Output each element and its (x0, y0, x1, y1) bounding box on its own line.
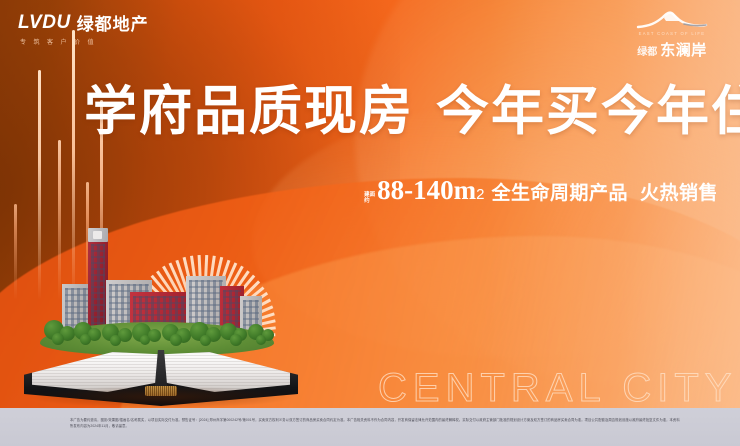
legal-disclaimer: 本广告为要约邀请，图影/效果图/插画名/名称属实，以项目实际交付为准。预售证号：… (70, 417, 680, 430)
area-prefix-label: 建面 约 (364, 193, 375, 205)
brand-name-text: 绿都地产 (77, 10, 149, 35)
building-clock-tower (88, 240, 108, 336)
sales-status-text: 火热销售 (640, 178, 718, 205)
project-english-name: EAST COAST OF LIFE (620, 31, 724, 36)
advertisement-poster: LVDU 绿都地产 专筑客户价值 EAST COAST OF LIFE 绿都 东… (0, 0, 740, 446)
product-description: 全生命周期产品 (491, 178, 628, 205)
book-campus-illustration (18, 236, 304, 412)
developer-short-name: 绿都 (637, 43, 657, 58)
brand-logo-left: LVDU 绿都地产 专筑客户价值 (18, 10, 149, 46)
headline-part-2: 今年买今年住 (436, 83, 740, 141)
clock-face-icon (93, 231, 102, 239)
project-logo-right: EAST COAST OF LIFE 绿都 东澜岸 (620, 8, 724, 60)
brand-logo-row: LVDU 绿都地产 (18, 10, 149, 35)
area-unit-superscript: 2 (476, 186, 484, 203)
wave-mountain-mark-icon (636, 8, 708, 30)
campus-buildings (52, 236, 264, 336)
project-name: 东澜岸 (660, 39, 707, 60)
headline-part-1: 学府品质现房 (84, 83, 414, 141)
book-drop-shadow (30, 386, 292, 408)
area-prefix-line-2: 约 (364, 199, 375, 205)
main-headline: 学府品质现房今年买今年住 (84, 86, 740, 139)
brand-mark-text: LVDU (18, 12, 71, 34)
area-range-value: 88-140m (377, 175, 476, 206)
footer-bar: 本广告为要约邀请，图影/效果图/插画名/名称属实，以项目实际交付为准。预售证号：… (0, 408, 740, 446)
central-city-watermark: CENTRAL CITY (378, 366, 737, 411)
brand-tagline: 专筑客户价值 (18, 37, 149, 46)
sub-headline: 建面 约 88-140m2 全生命周期产品 火热销售 (364, 175, 718, 208)
project-chinese-name: 绿都 东澜岸 (620, 39, 724, 60)
